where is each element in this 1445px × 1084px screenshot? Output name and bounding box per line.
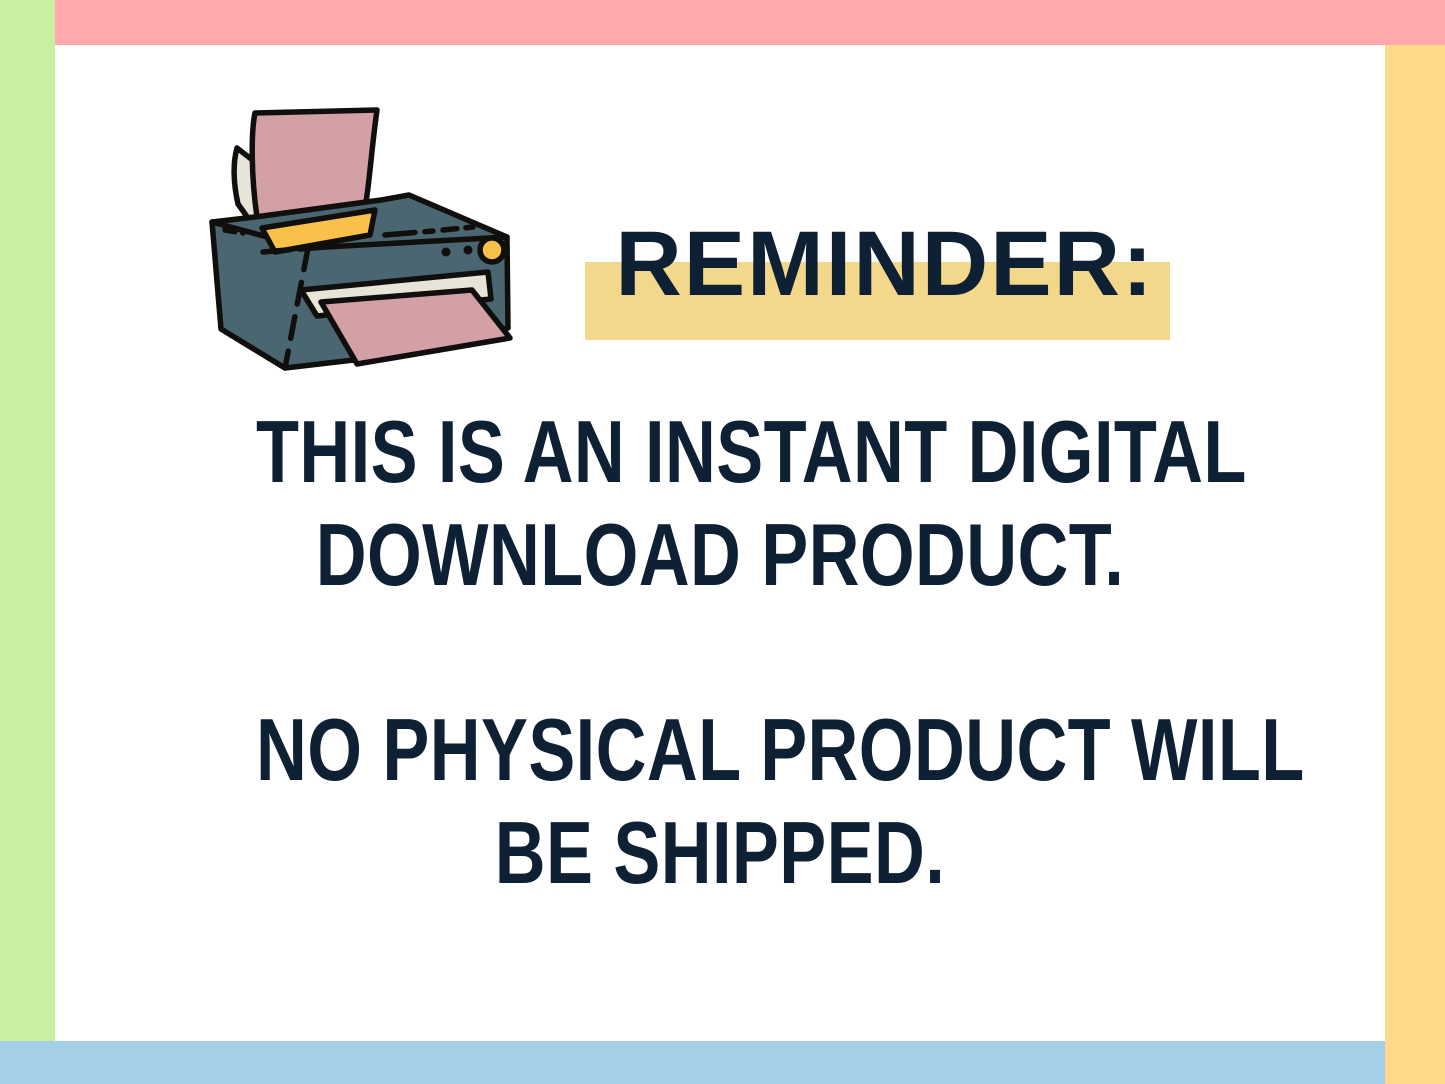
body-copy: THIS IS AN INSTANT DIGITAL DOWNLOAD PROD…: [140, 400, 1300, 904]
paragraph-spacer: [140, 606, 1300, 698]
printer-icon: [185, 100, 545, 390]
decorative-bar-bottom-blue: [0, 1041, 1445, 1084]
heading-block: REMINDER:: [585, 205, 1185, 395]
poster-content: REMINDER: THIS IS AN INSTANT DIGITAL DOW…: [55, 45, 1385, 1041]
body-line: THIS IS AN INSTANT DIGITAL: [256, 400, 1184, 503]
poster-canvas: REMINDER: THIS IS AN INSTANT DIGITAL DOW…: [0, 0, 1445, 1084]
body-line: NO PHYSICAL PRODUCT WILL: [256, 698, 1184, 801]
printer-indicator-dot-1: [442, 248, 451, 257]
decorative-bar-right-yellow: [1385, 45, 1445, 1084]
printer-indicator-dot-2: [464, 246, 473, 255]
decorative-bar-left-green: [0, 0, 55, 1041]
printer-output-paper: [321, 290, 510, 364]
printer-power-button: [480, 238, 504, 262]
decorative-bar-top-pink: [55, 0, 1445, 45]
body-line: BE SHIPPED.: [256, 801, 1184, 904]
body-line: DOWNLOAD PRODUCT.: [256, 503, 1184, 606]
page-title: REMINDER:: [585, 205, 1185, 323]
